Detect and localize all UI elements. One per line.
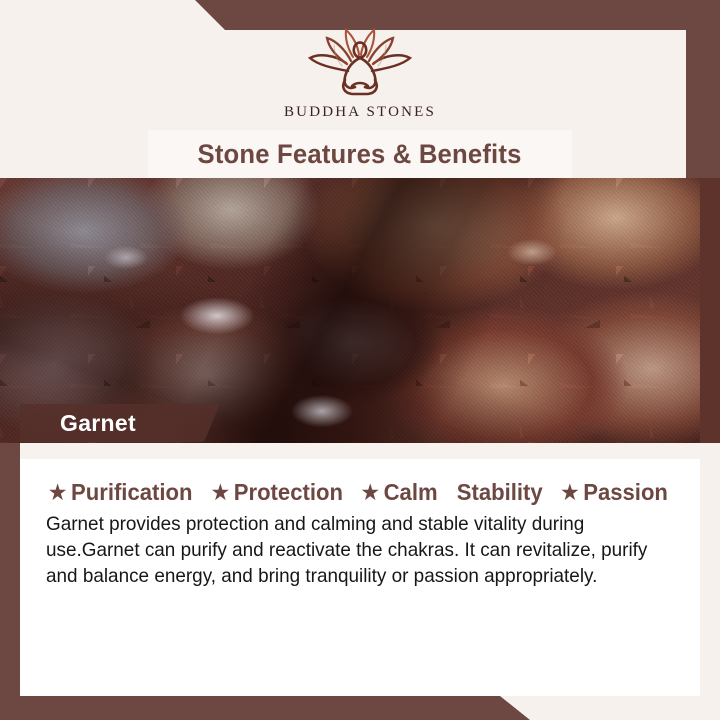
star-icon: ★ <box>212 483 229 503</box>
photo-right-edge <box>700 178 720 443</box>
stone-name-label: Garnet <box>20 404 220 442</box>
star-icon: ★ <box>49 483 66 503</box>
header: BUDDHA STONES Stone Features & Benefits <box>0 0 720 178</box>
photo-vignette-layer <box>0 178 700 443</box>
benefit-item-calm: ★ Calm <box>362 479 438 506</box>
benefit-item-passion: ★ Passion <box>561 479 668 506</box>
benefit-label: Purification <box>71 479 192 506</box>
brand-logo: BUDDHA STONES <box>0 24 720 121</box>
infographic-page: BUDDHA STONES Stone Features & Benefits … <box>0 0 720 720</box>
lotus-meditation-icon <box>285 24 435 102</box>
card-top-divider <box>20 443 700 459</box>
benefits-list: ★ Purification ★ Protection ★ Calm Stabi… <box>46 479 686 506</box>
content-card: ★ Purification ★ Protection ★ Calm Stabi… <box>20 443 700 696</box>
brand-name: BUDDHA STONES <box>0 104 720 121</box>
benefit-item-stability: Stability <box>457 479 543 506</box>
star-icon: ★ <box>561 483 578 503</box>
stone-description: Garnet provides protection and calming a… <box>46 511 675 589</box>
bottom-decorative-band <box>0 696 720 720</box>
stone-photo <box>0 178 700 443</box>
stone-name-text: Garnet <box>20 410 136 437</box>
star-icon: ★ <box>362 483 379 503</box>
benefit-label: Calm <box>384 479 438 506</box>
page-title: Stone Features & Benefits <box>198 139 522 170</box>
benefit-item-protection: ★ Protection <box>212 479 343 506</box>
title-banner: Stone Features & Benefits <box>148 130 572 178</box>
benefit-label: Protection <box>234 479 343 506</box>
benefit-label: Passion <box>583 479 668 506</box>
benefit-label: Stability <box>457 479 543 506</box>
benefit-item-purification: ★ Purification <box>49 479 192 506</box>
